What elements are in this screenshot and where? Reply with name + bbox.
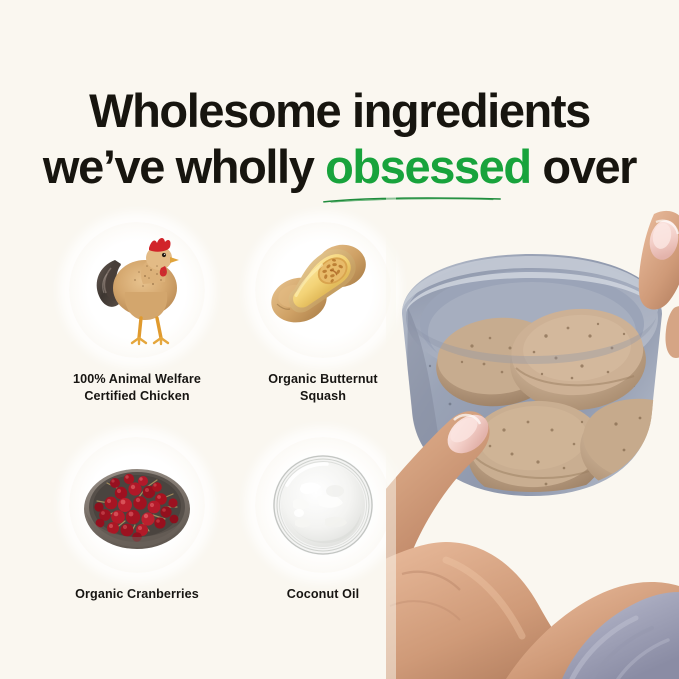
ingredient-item-cranberries: Organic Cranberries [44,437,230,603]
hand-bowl-illustration [386,196,679,679]
coconut-oil-jar-photo [255,437,391,573]
ingredient-label: 100% Animal Welfare Certified Chicken [44,371,230,404]
cranberries-bowl-photo [69,437,205,573]
ingredient-grid: 100% Animal Welfare Certified Chicken [44,222,404,622]
ingredient-item-chicken: 100% Animal Welfare Certified Chicken [44,222,230,404]
ingredient-label: Organic Cranberries [44,586,230,603]
headline-line-1: Wholesome ingredients [0,83,679,139]
butternut-squash-photo [255,222,391,358]
coconut-oil-illustration [255,437,391,573]
hand-holding-bowl-photo [386,196,679,679]
cranberries-illustration [69,437,205,573]
chicken-illustration [69,222,205,358]
butternut-squash-illustration [255,222,391,358]
headline-line-2-prefix: we’ve wholly [43,140,325,193]
headline-accent-word: obsessed [325,139,531,195]
headline-line-2: we’ve wholly obsessed over [0,139,679,195]
chicken-photo [69,222,205,358]
page-title: Wholesome ingredients we’ve wholly obses… [0,83,679,195]
promo-graphic: Wholesome ingredients we’ve wholly obses… [0,0,679,679]
headline-line-2-suffix: over [531,140,636,193]
headline-accent-text: obsessed [325,140,531,193]
